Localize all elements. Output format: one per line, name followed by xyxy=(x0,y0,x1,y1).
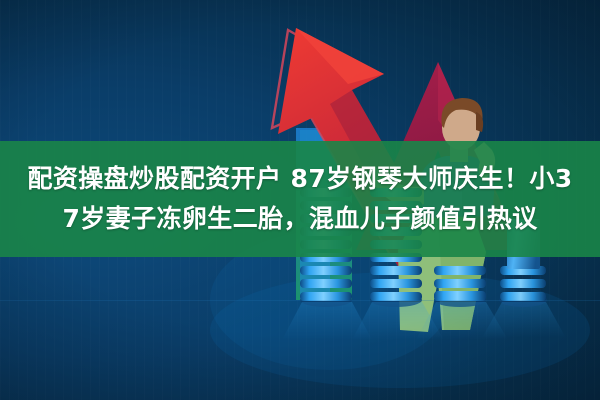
headline-text: 配资操盘炒股配资开户 87岁钢琴大师庆生！小37岁妻子冻卵生二胎，混血儿子颜值引… xyxy=(22,159,578,239)
floor-reflections xyxy=(282,302,566,340)
banner-image: 配资操盘炒股配资开户 87岁钢琴大师庆生！小37岁妻子冻卵生二胎，混血儿子颜值引… xyxy=(0,0,600,400)
headline-banner: 配资操盘炒股配资开户 87岁钢琴大师庆生！小37岁妻子冻卵生二胎，混血儿子颜值引… xyxy=(0,141,600,257)
